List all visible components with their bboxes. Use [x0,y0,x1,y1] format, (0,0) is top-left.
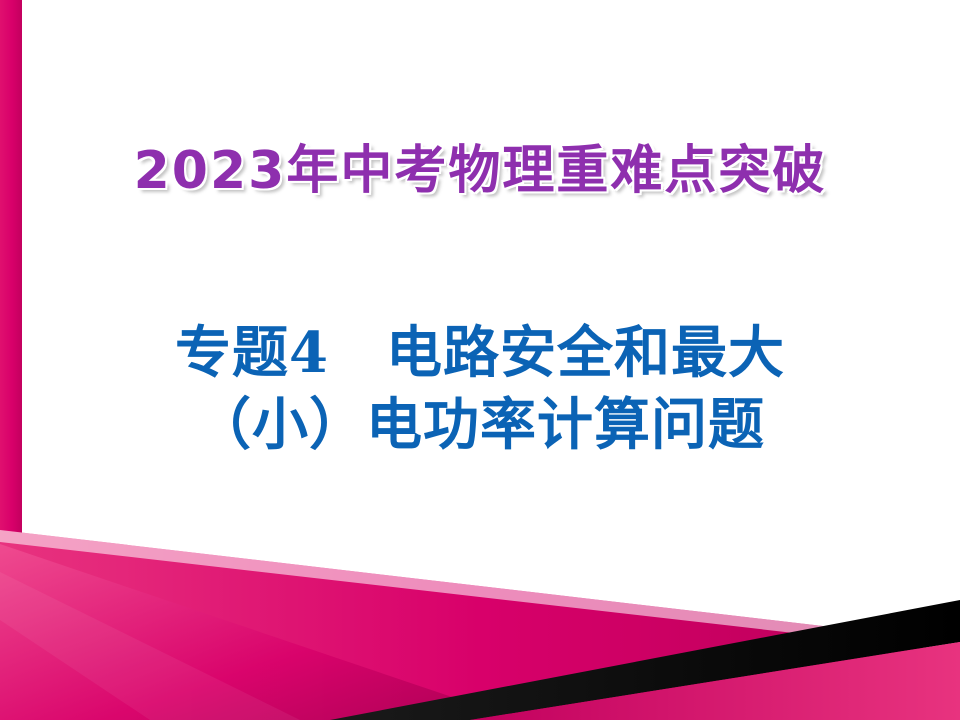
subtitle-block: 专题4 电路安全和最大 （小）电功率计算问题 [0,318,960,461]
bottom-decorative-band [0,492,960,720]
slide-canvas: 2023年中考物理重难点突破 专题4 电路安全和最大 （小）电功率计算问题 [0,0,960,720]
bottom-band-graphic [0,492,960,720]
subtitle-line-1: 专题4 电路安全和最大 [0,318,960,390]
page-title: 2023年中考物理重难点突破 [0,128,960,203]
subtitle-line-2: （小）电功率计算问题 [0,390,960,462]
title-block: 2023年中考物理重难点突破 [0,128,960,203]
